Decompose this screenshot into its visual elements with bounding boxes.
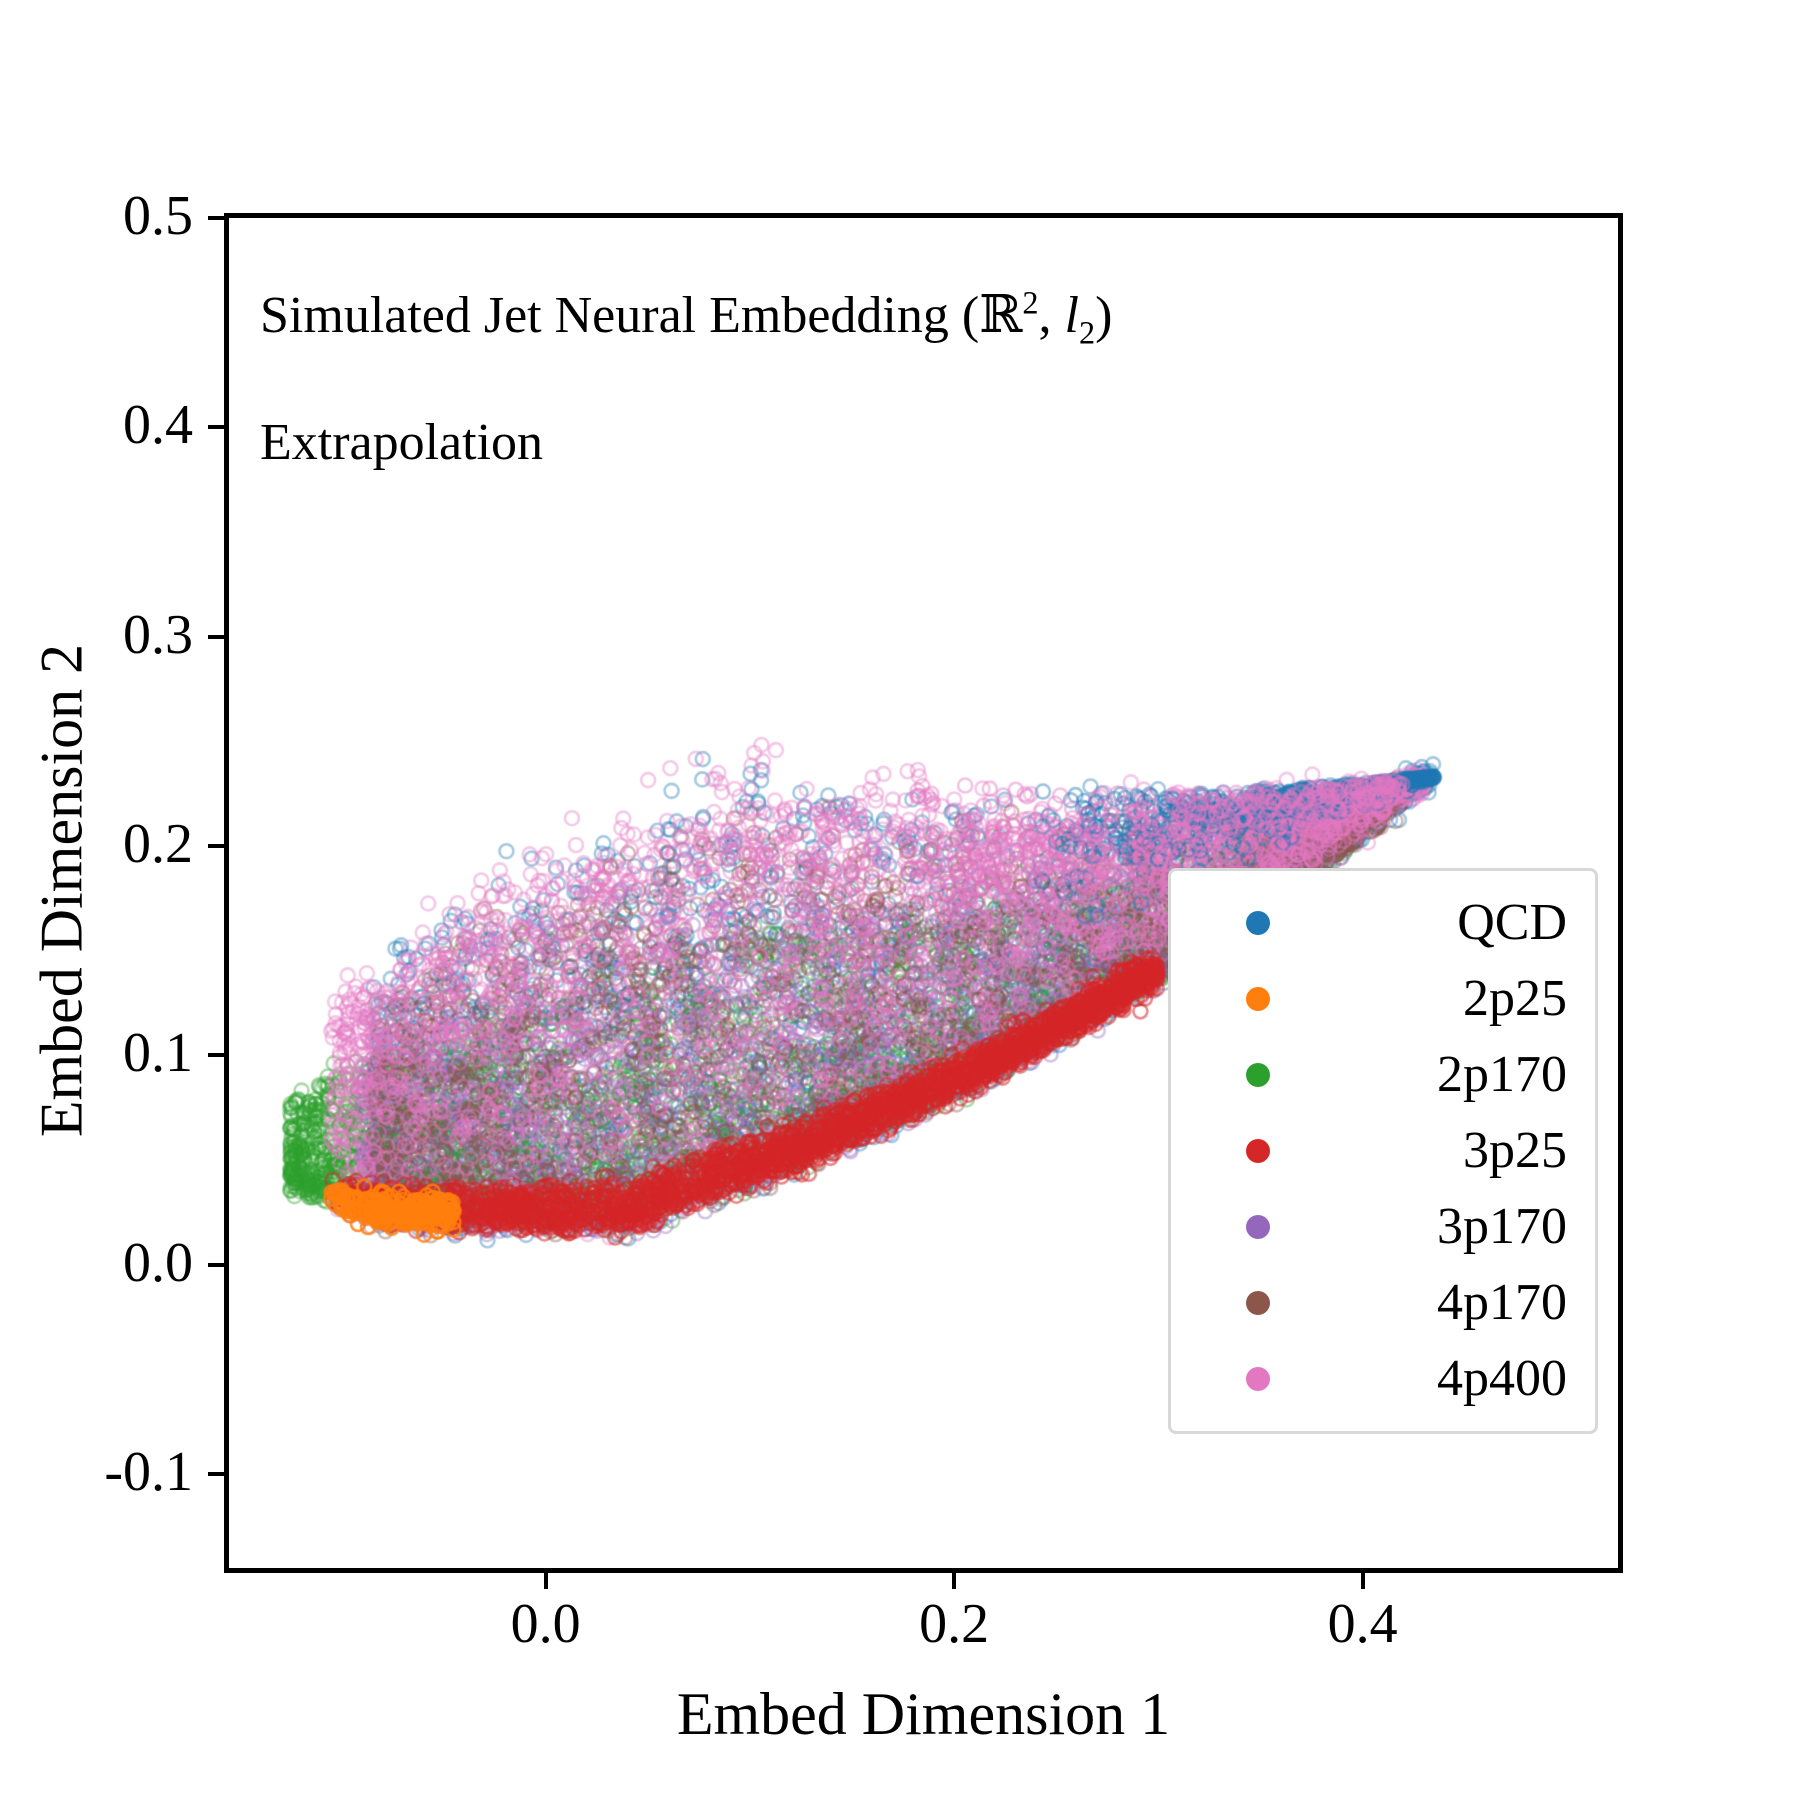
legend-swatch-cell [1193, 1063, 1323, 1087]
y-tick-mark [208, 844, 224, 848]
title-subscript: 2 [1079, 314, 1095, 350]
x-tick-label: 0.0 [446, 1596, 646, 1652]
y-tick-label: 0.2 [123, 816, 193, 872]
y-tick-mark [208, 1472, 224, 1476]
ell-symbol: l [1065, 287, 1079, 344]
y-tick-mark [208, 425, 224, 429]
legend-swatch-cell [1193, 1139, 1323, 1163]
legend-item-4p400[interactable]: 4p400 [1193, 1341, 1573, 1417]
legend-swatch-cell [1193, 1367, 1323, 1391]
x-tick-label: 0.2 [854, 1596, 1054, 1652]
legend-item-2p170[interactable]: 2p170 [1193, 1037, 1573, 1113]
title-comma: , [1039, 287, 1065, 344]
legend-marker-icon [1246, 987, 1270, 1011]
y-tick-label: 0.0 [123, 1235, 193, 1291]
legend-item-label: 4p400 [1323, 1353, 1573, 1405]
real-numbers-symbol: ℝ [979, 285, 1022, 345]
legend-swatch-cell [1193, 1215, 1323, 1239]
x-tick-label: 0.4 [1263, 1596, 1463, 1652]
legend-item-qcd[interactable]: QCD [1193, 885, 1573, 961]
y-tick-mark [208, 1053, 224, 1057]
legend-marker-icon [1246, 1291, 1270, 1315]
figure-root: Simulated Jet Neural Embedding (ℝ2, l2) … [0, 0, 1800, 1800]
legend-item-4p170[interactable]: 4p170 [1193, 1265, 1573, 1341]
legend-marker-icon [1246, 1063, 1270, 1087]
legend-item-3p25[interactable]: 3p25 [1193, 1113, 1573, 1189]
y-tick-label: -0.1 [104, 1444, 193, 1500]
legend-item-label: 2p25 [1323, 973, 1573, 1025]
y-tick-label: 0.3 [123, 607, 193, 663]
legend-item-2p25[interactable]: 2p25 [1193, 961, 1573, 1037]
y-tick-label: 0.4 [123, 397, 193, 453]
x-axis-label: Embed Dimension 1 [224, 1680, 1623, 1749]
plot-title: Simulated Jet Neural Embedding (ℝ2, l2) … [260, 222, 1480, 474]
legend-item-label: 3p170 [1323, 1201, 1573, 1253]
y-axis-label: Embed Dimension 2 [28, 511, 97, 1271]
y-tick-label: 0.5 [123, 188, 193, 244]
legend-item-label: 3p25 [1323, 1125, 1573, 1177]
legend-item-label: QCD [1323, 897, 1573, 949]
title-line-2: Extrapolation [260, 414, 543, 471]
x-tick-mark [544, 1573, 548, 1589]
x-tick-mark [1361, 1573, 1365, 1589]
y-tick-mark [208, 1263, 224, 1267]
legend-item-label: 4p170 [1323, 1277, 1573, 1329]
x-tick-mark [952, 1573, 956, 1589]
title-text-pre: Simulated Jet Neural Embedding ( [260, 287, 979, 344]
title-line-1: Simulated Jet Neural Embedding (ℝ2, l2) [260, 287, 1112, 344]
legend-swatch-cell [1193, 911, 1323, 935]
legend-swatch-cell [1193, 987, 1323, 1011]
title-close-paren: ) [1095, 287, 1112, 344]
plot-legend[interactable]: QCD2p252p1703p253p1704p1704p400 [1168, 868, 1598, 1434]
legend-item-label: 2p170 [1323, 1049, 1573, 1101]
legend-item-3p170[interactable]: 3p170 [1193, 1189, 1573, 1265]
legend-marker-icon [1246, 911, 1270, 935]
y-tick-mark [208, 216, 224, 220]
y-tick-mark [208, 635, 224, 639]
y-tick-label: 0.1 [123, 1025, 193, 1081]
title-superscript: 2 [1022, 284, 1038, 320]
legend-marker-icon [1246, 1215, 1270, 1239]
legend-marker-icon [1246, 1139, 1270, 1163]
legend-marker-icon [1246, 1367, 1270, 1391]
legend-swatch-cell [1193, 1291, 1323, 1315]
